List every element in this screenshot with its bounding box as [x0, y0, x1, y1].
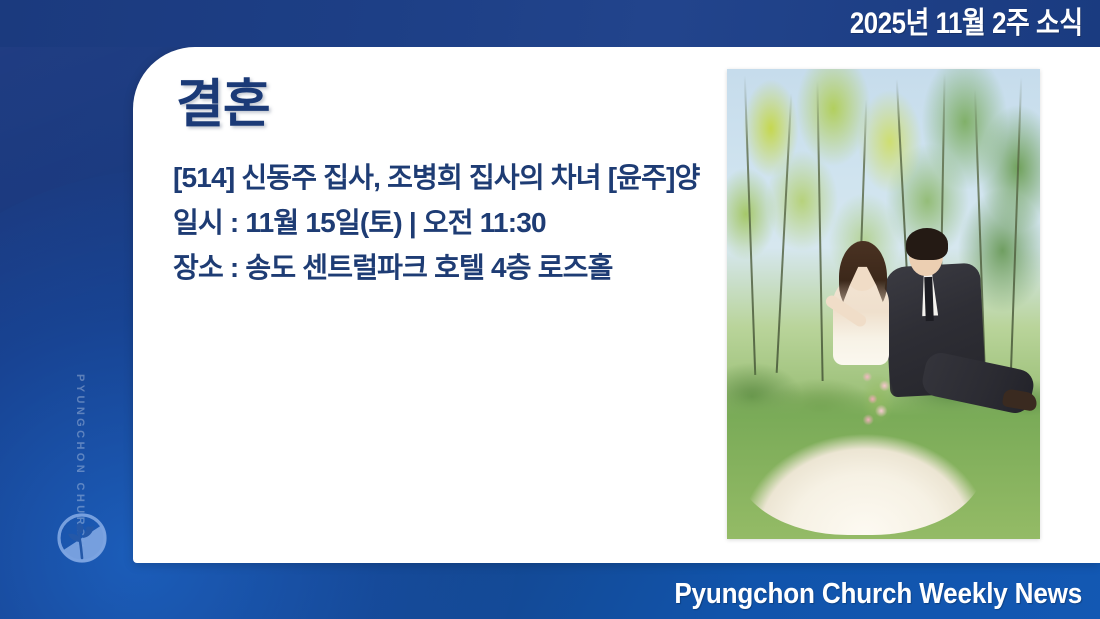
announcement-body: [514] 신동주 집사, 조병희 집사의 차녀 [윤주]양 일시 : 11월 …: [173, 155, 733, 290]
wedding-photo: [727, 69, 1040, 539]
announcement-line-datetime: 일시 : 11월 15일(토) | 오전 11:30: [173, 200, 733, 245]
pyungchon-church-flower-logo-icon: [56, 512, 108, 564]
announcement-line-couple: [514] 신동주 집사, 조병희 집사의 차녀 [윤주]양: [173, 155, 733, 200]
bridal-bouquet: [851, 365, 905, 439]
groom-necktie: [924, 277, 934, 321]
announcement-line-venue: 장소 : 송도 센트럴파크 호텔 4층 로즈홀: [173, 245, 733, 290]
groom-hair: [906, 228, 948, 260]
page-title: 결혼: [176, 77, 270, 134]
footer-title: Pyungchon Church Weekly News: [674, 578, 1082, 611]
footer-bar: Pyungchon Church Weekly News: [0, 563, 1100, 619]
content-card: 결혼 [514] 신동주 집사, 조병희 집사의 차녀 [윤주]양 일시 : 1…: [133, 47, 1100, 563]
header-title: 2025년 11월 2주 소식: [850, 3, 1083, 45]
slide-root: 2025년 11월 2주 소식 결혼 [514] 신동주 집사, 조병희 집사의…: [0, 0, 1100, 619]
top-header-bar: 2025년 11월 2주 소식: [0, 0, 1100, 47]
